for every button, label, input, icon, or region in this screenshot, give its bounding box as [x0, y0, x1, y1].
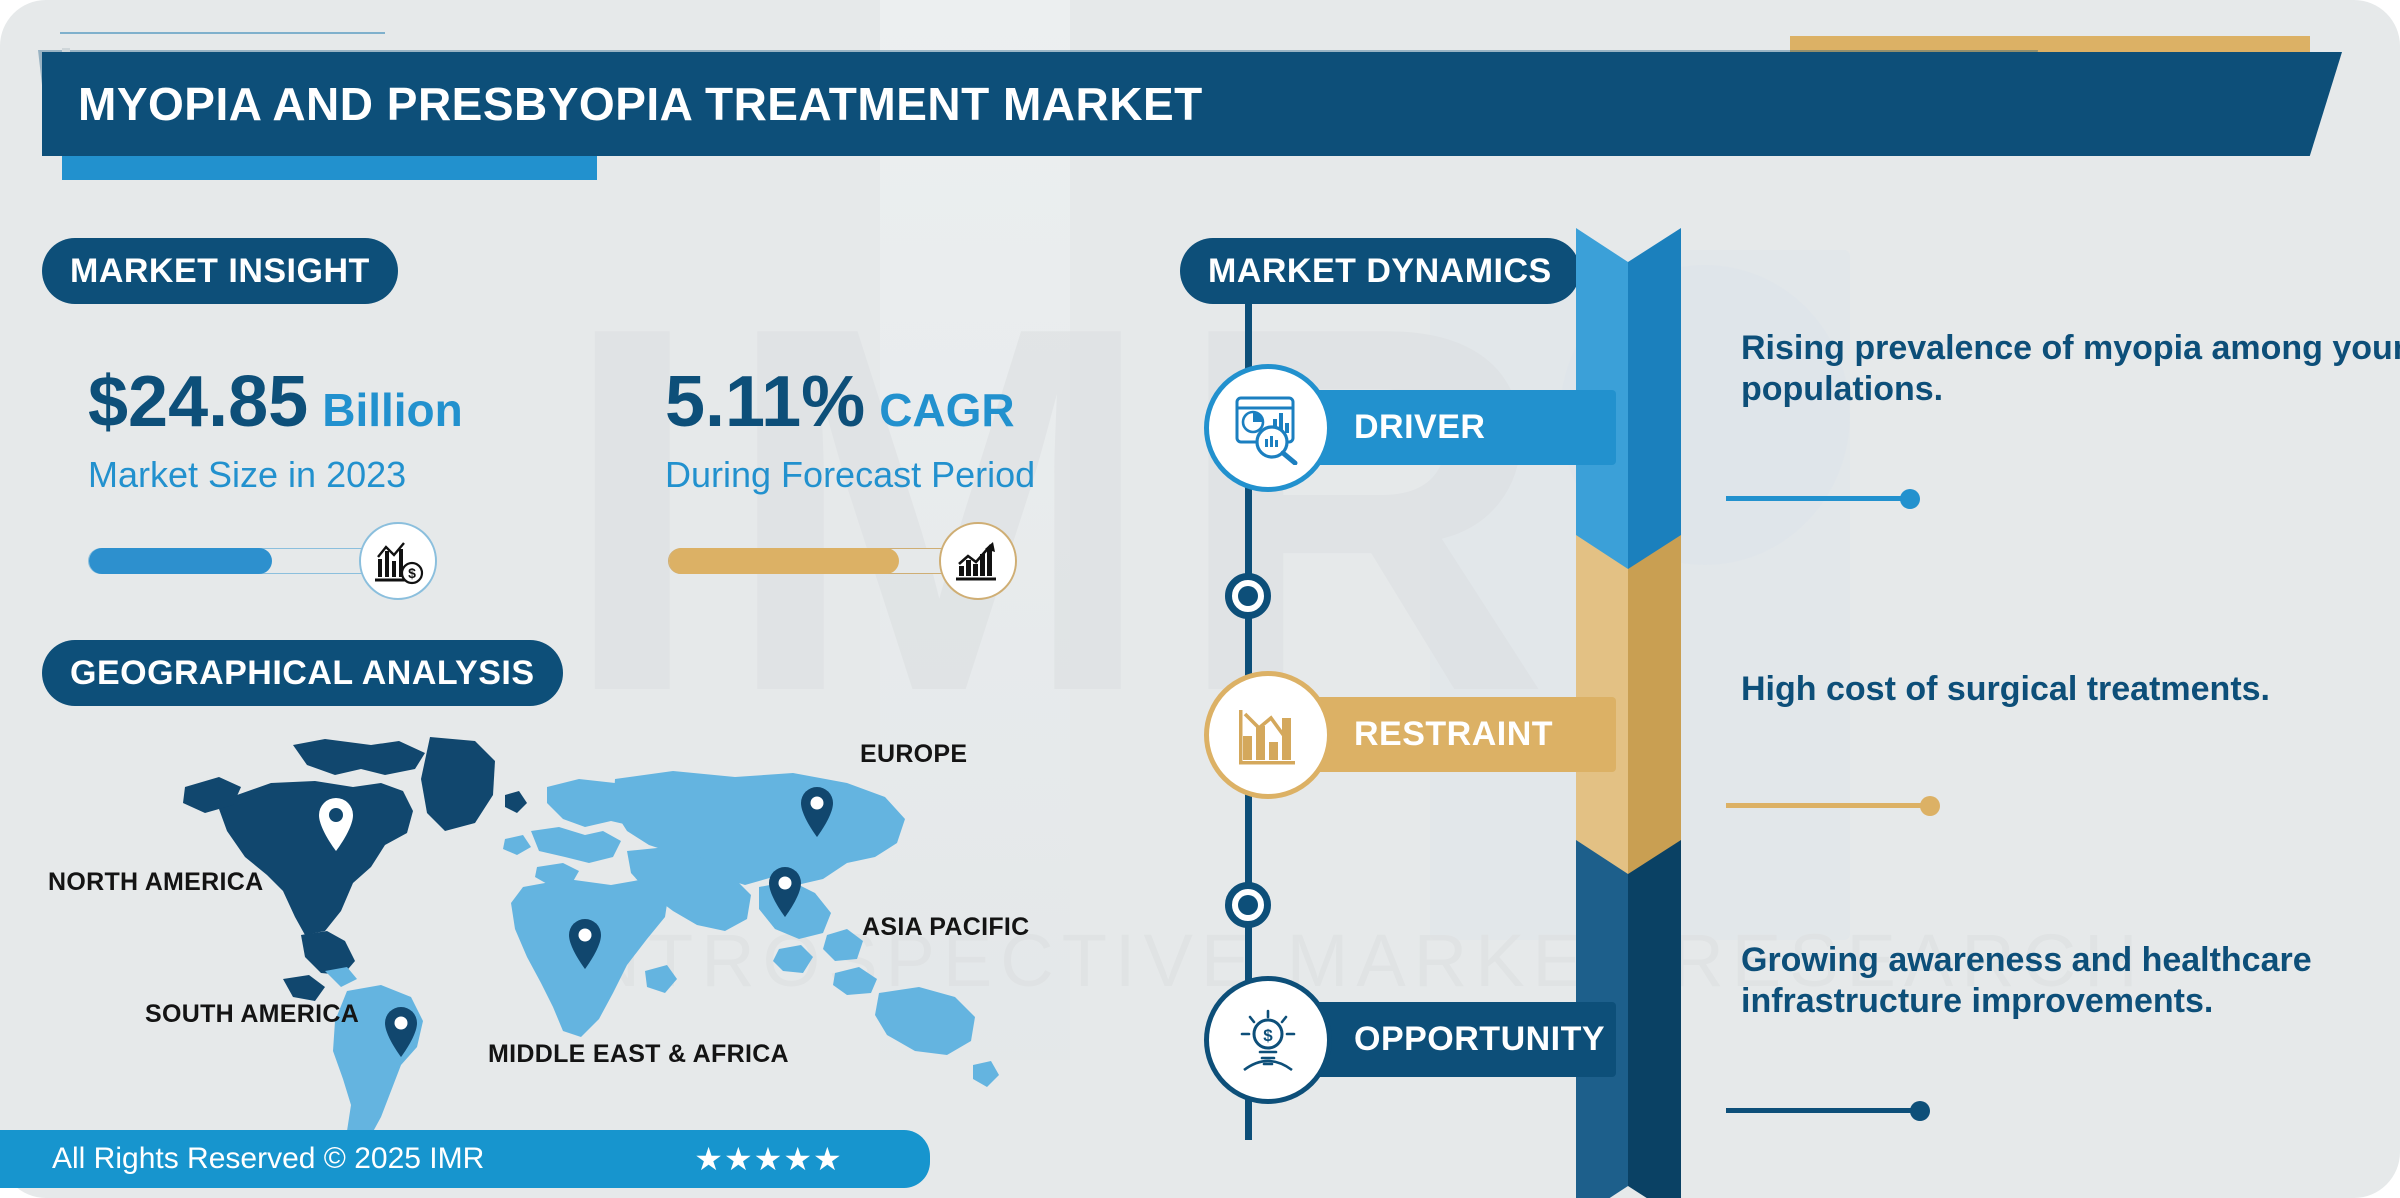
driver-description: Rising prevalence of myopia among young … — [1741, 328, 2400, 411]
driver-label: DRIVER — [1354, 408, 1485, 447]
timeline-node-2 — [1225, 882, 1271, 928]
svg-text:$: $ — [408, 565, 416, 581]
opportunity-connector — [1726, 1108, 1921, 1113]
stat-cagr: 5.11% CAGR During Forecast Period — [665, 366, 1035, 496]
declining-bar-chart-icon — [1204, 671, 1332, 799]
restraint-connector — [1726, 803, 1931, 808]
cagr-value: 5.11% — [665, 366, 865, 438]
stat-market-size: $24.85 Billion Market Size in 2023 — [88, 366, 463, 496]
market-size-unit: Billion — [322, 387, 463, 433]
map-label-north-america: NORTH AMERICA — [48, 868, 263, 897]
cagr-meter — [668, 522, 1017, 600]
map-label-asia-pacific: ASIA PACIFIC — [862, 913, 1030, 942]
cagr-meter-fill — [669, 548, 899, 574]
timeline-node-1 — [1225, 573, 1271, 619]
cagr-caption: During Forecast Period — [665, 454, 1035, 496]
map-label-south-america: SOUTH AMERICA — [145, 1000, 359, 1029]
copyright-text: All Rights Reserved © 2025 IMR — [52, 1142, 484, 1176]
world-map — [175, 735, 1005, 1155]
market-size-meter-fill — [89, 548, 272, 574]
market-size-meter: $ — [88, 522, 437, 600]
market-size-value: $24.85 — [88, 366, 308, 438]
map-label-middle-east-africa: MIDDLE EAST & AFRICA — [488, 1040, 789, 1069]
restraint-label: RESTRAINT — [1354, 715, 1553, 754]
infographic-canvas: IMR INTROSPECTIVE MARKET RESEARCH MYOPIA… — [0, 0, 2400, 1198]
section-pill-geographical-analysis: GEOGRAPHICAL ANALYSIS — [42, 640, 563, 706]
page-title: MYOPIA AND PRESBYOPIA TREATMENT MARKET — [78, 77, 1203, 131]
driver-connector — [1726, 496, 1911, 501]
svg-text:$: $ — [1263, 1026, 1273, 1045]
map-region-south-america — [325, 967, 423, 1147]
section-pill-market-dynamics: MARKET DYNAMICS — [1180, 238, 1580, 304]
bar-chart-dollar-icon: $ — [359, 522, 437, 600]
map-region-middle-east-africa — [511, 879, 677, 1037]
growth-chart-arrow-icon — [939, 522, 1017, 600]
opportunity-label: OPPORTUNITY — [1354, 1020, 1605, 1059]
lightbulb-dollar-icon: $ — [1204, 976, 1332, 1104]
market-size-caption: Market Size in 2023 — [88, 454, 463, 496]
market-size-meter-track — [88, 548, 393, 574]
watermark-logo: IMR — [560, 250, 1567, 770]
map-label-europe: EUROPE — [860, 740, 967, 769]
dashboard-magnifier-icon — [1204, 364, 1332, 492]
header-thin-rule — [60, 32, 385, 34]
rating-stars-icon: ★★★★★ — [694, 1140, 842, 1178]
cagr-unit: CAGR — [879, 387, 1014, 433]
cagr-meter-track — [668, 548, 973, 574]
footer-bar: All Rights Reserved © 2025 IMR ★★★★★ — [0, 1130, 930, 1188]
title-bar: MYOPIA AND PRESBYOPIA TREATMENT MARKET — [42, 52, 2342, 156]
restraint-description: High cost of surgical treatments. — [1741, 669, 2400, 710]
section-pill-market-insight: MARKET INSIGHT — [42, 238, 398, 304]
opportunity-description: Growing awareness and healthcare infrast… — [1741, 940, 2400, 1023]
title-underline-accent — [62, 156, 597, 180]
